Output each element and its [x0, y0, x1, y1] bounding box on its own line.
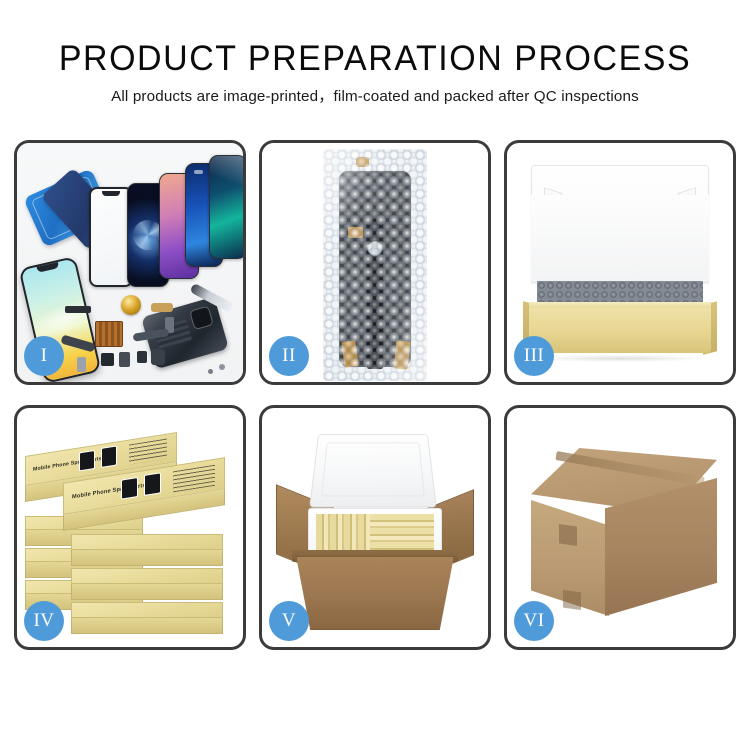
kraft-box-body — [529, 307, 711, 353]
page-title: PRODUCT PREPARATION PROCESS — [11, 38, 739, 80]
step-panel-2: II — [259, 140, 491, 385]
carton-tab-upper — [559, 524, 577, 546]
gold-coil-part — [121, 295, 141, 315]
component-bar-1 — [65, 306, 91, 313]
step-badge-2: II — [269, 336, 309, 376]
step-badge-3: III — [514, 336, 554, 376]
box-shadow — [535, 355, 705, 362]
box-label-screen-front-2 — [144, 472, 161, 496]
page-subtitle: All products are image-printed，film-coat… — [0, 87, 750, 107]
component-bar-2 — [151, 303, 173, 312]
step-panel-6: VI — [504, 405, 736, 650]
box-label-screen-rear-2 — [101, 445, 117, 468]
step-panel-5: V — [259, 405, 491, 650]
step-panel-4: Mobile Phone Spare Parts Mobile Phone Sp… — [14, 405, 246, 650]
foam-insert — [531, 195, 709, 281]
kraft-box-stack-lower-3 — [71, 602, 223, 618]
bubble-texture-offset — [323, 149, 427, 381]
carton-front-wall — [296, 556, 454, 630]
process-step-grid: I II — [14, 140, 736, 650]
kraft-box-stack-lower-1 — [71, 534, 223, 550]
small-component-1 — [101, 353, 114, 366]
box-label-screen-front-1 — [121, 477, 138, 500]
screw-1 — [219, 364, 225, 370]
carton-tab-lower — [563, 590, 581, 610]
camera-module — [77, 357, 86, 372]
step-badge-6: VI — [514, 601, 554, 641]
speaker-module — [151, 349, 165, 365]
foam-box-lid — [309, 434, 437, 507]
product-preparation-infographic: PRODUCT PREPARATION PROCESS All products… — [0, 0, 750, 750]
kraft-box-stack-lower-2 — [71, 568, 223, 584]
step-panel-1: I — [14, 140, 246, 385]
step-panel-3: III — [504, 140, 736, 385]
screw-2 — [208, 369, 213, 374]
step-badge-5: V — [269, 601, 309, 641]
bubble-wrap-bag — [323, 149, 427, 381]
box-label-screen-rear-1 — [79, 450, 95, 472]
header: PRODUCT PREPARATION PROCESS All products… — [0, 38, 750, 107]
small-component-2 — [119, 352, 130, 367]
step-badge-1: I — [24, 336, 64, 376]
phone-teal-wallpaper — [209, 155, 243, 259]
step-badge-4: IV — [24, 601, 64, 641]
copper-contact-pad — [95, 321, 123, 347]
small-component-3 — [137, 351, 147, 363]
